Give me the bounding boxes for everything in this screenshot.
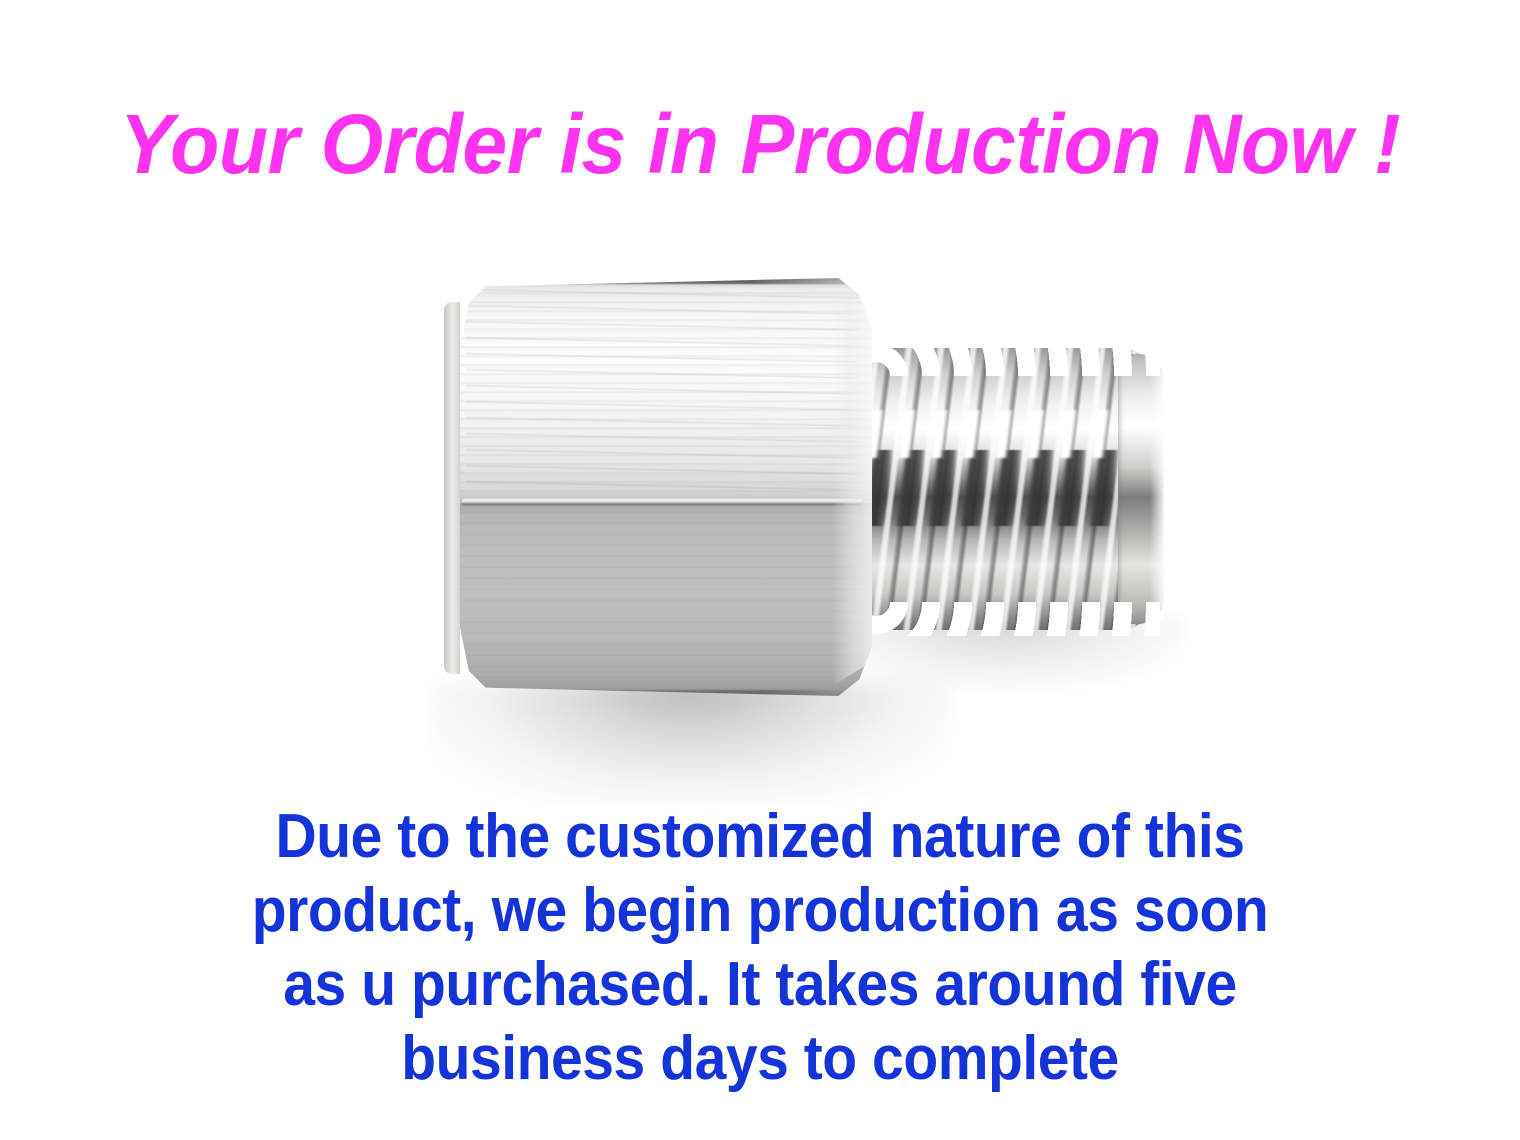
hex-silhouette — [452, 278, 872, 696]
product-photo — [0, 230, 1520, 790]
production-notice: Due to the customized nature of this pro… — [0, 800, 1520, 1096]
notice-line-1: Due to the customized nature of this — [61, 800, 1459, 874]
thread-valley-shadows — [862, 450, 1154, 526]
hex-left-edge — [444, 302, 460, 674]
page-title: Your Order is in Production Now ! — [30, 96, 1489, 192]
thread-specular-highlight — [862, 410, 1154, 458]
product-drop-shadow — [430, 682, 950, 802]
thread-end-cap-edge — [1150, 354, 1164, 624]
hex-nut-body — [452, 278, 872, 696]
hex-upper-face-scratches — [466, 284, 858, 496]
thread-crest-top-scallops — [860, 342, 1160, 376]
notice-line-4: business days to complete — [61, 1022, 1459, 1096]
promo-image-canvas: Your Order is in Production Now ! — [0, 0, 1520, 1140]
hex-lower-face-machining-marks — [452, 503, 872, 696]
male-threaded-nipple — [862, 348, 1162, 630]
hex-right-shoulder-highlight — [832, 288, 878, 686]
notice-line-2: product, we begin production as soon — [61, 874, 1459, 948]
notice-line-3: as u purchased. It takes around five — [61, 948, 1459, 1022]
thread-crest-bottom-scallops — [860, 602, 1160, 636]
hex-face-ridge-line — [462, 499, 862, 506]
hex-top-rim-edge — [468, 278, 860, 284]
